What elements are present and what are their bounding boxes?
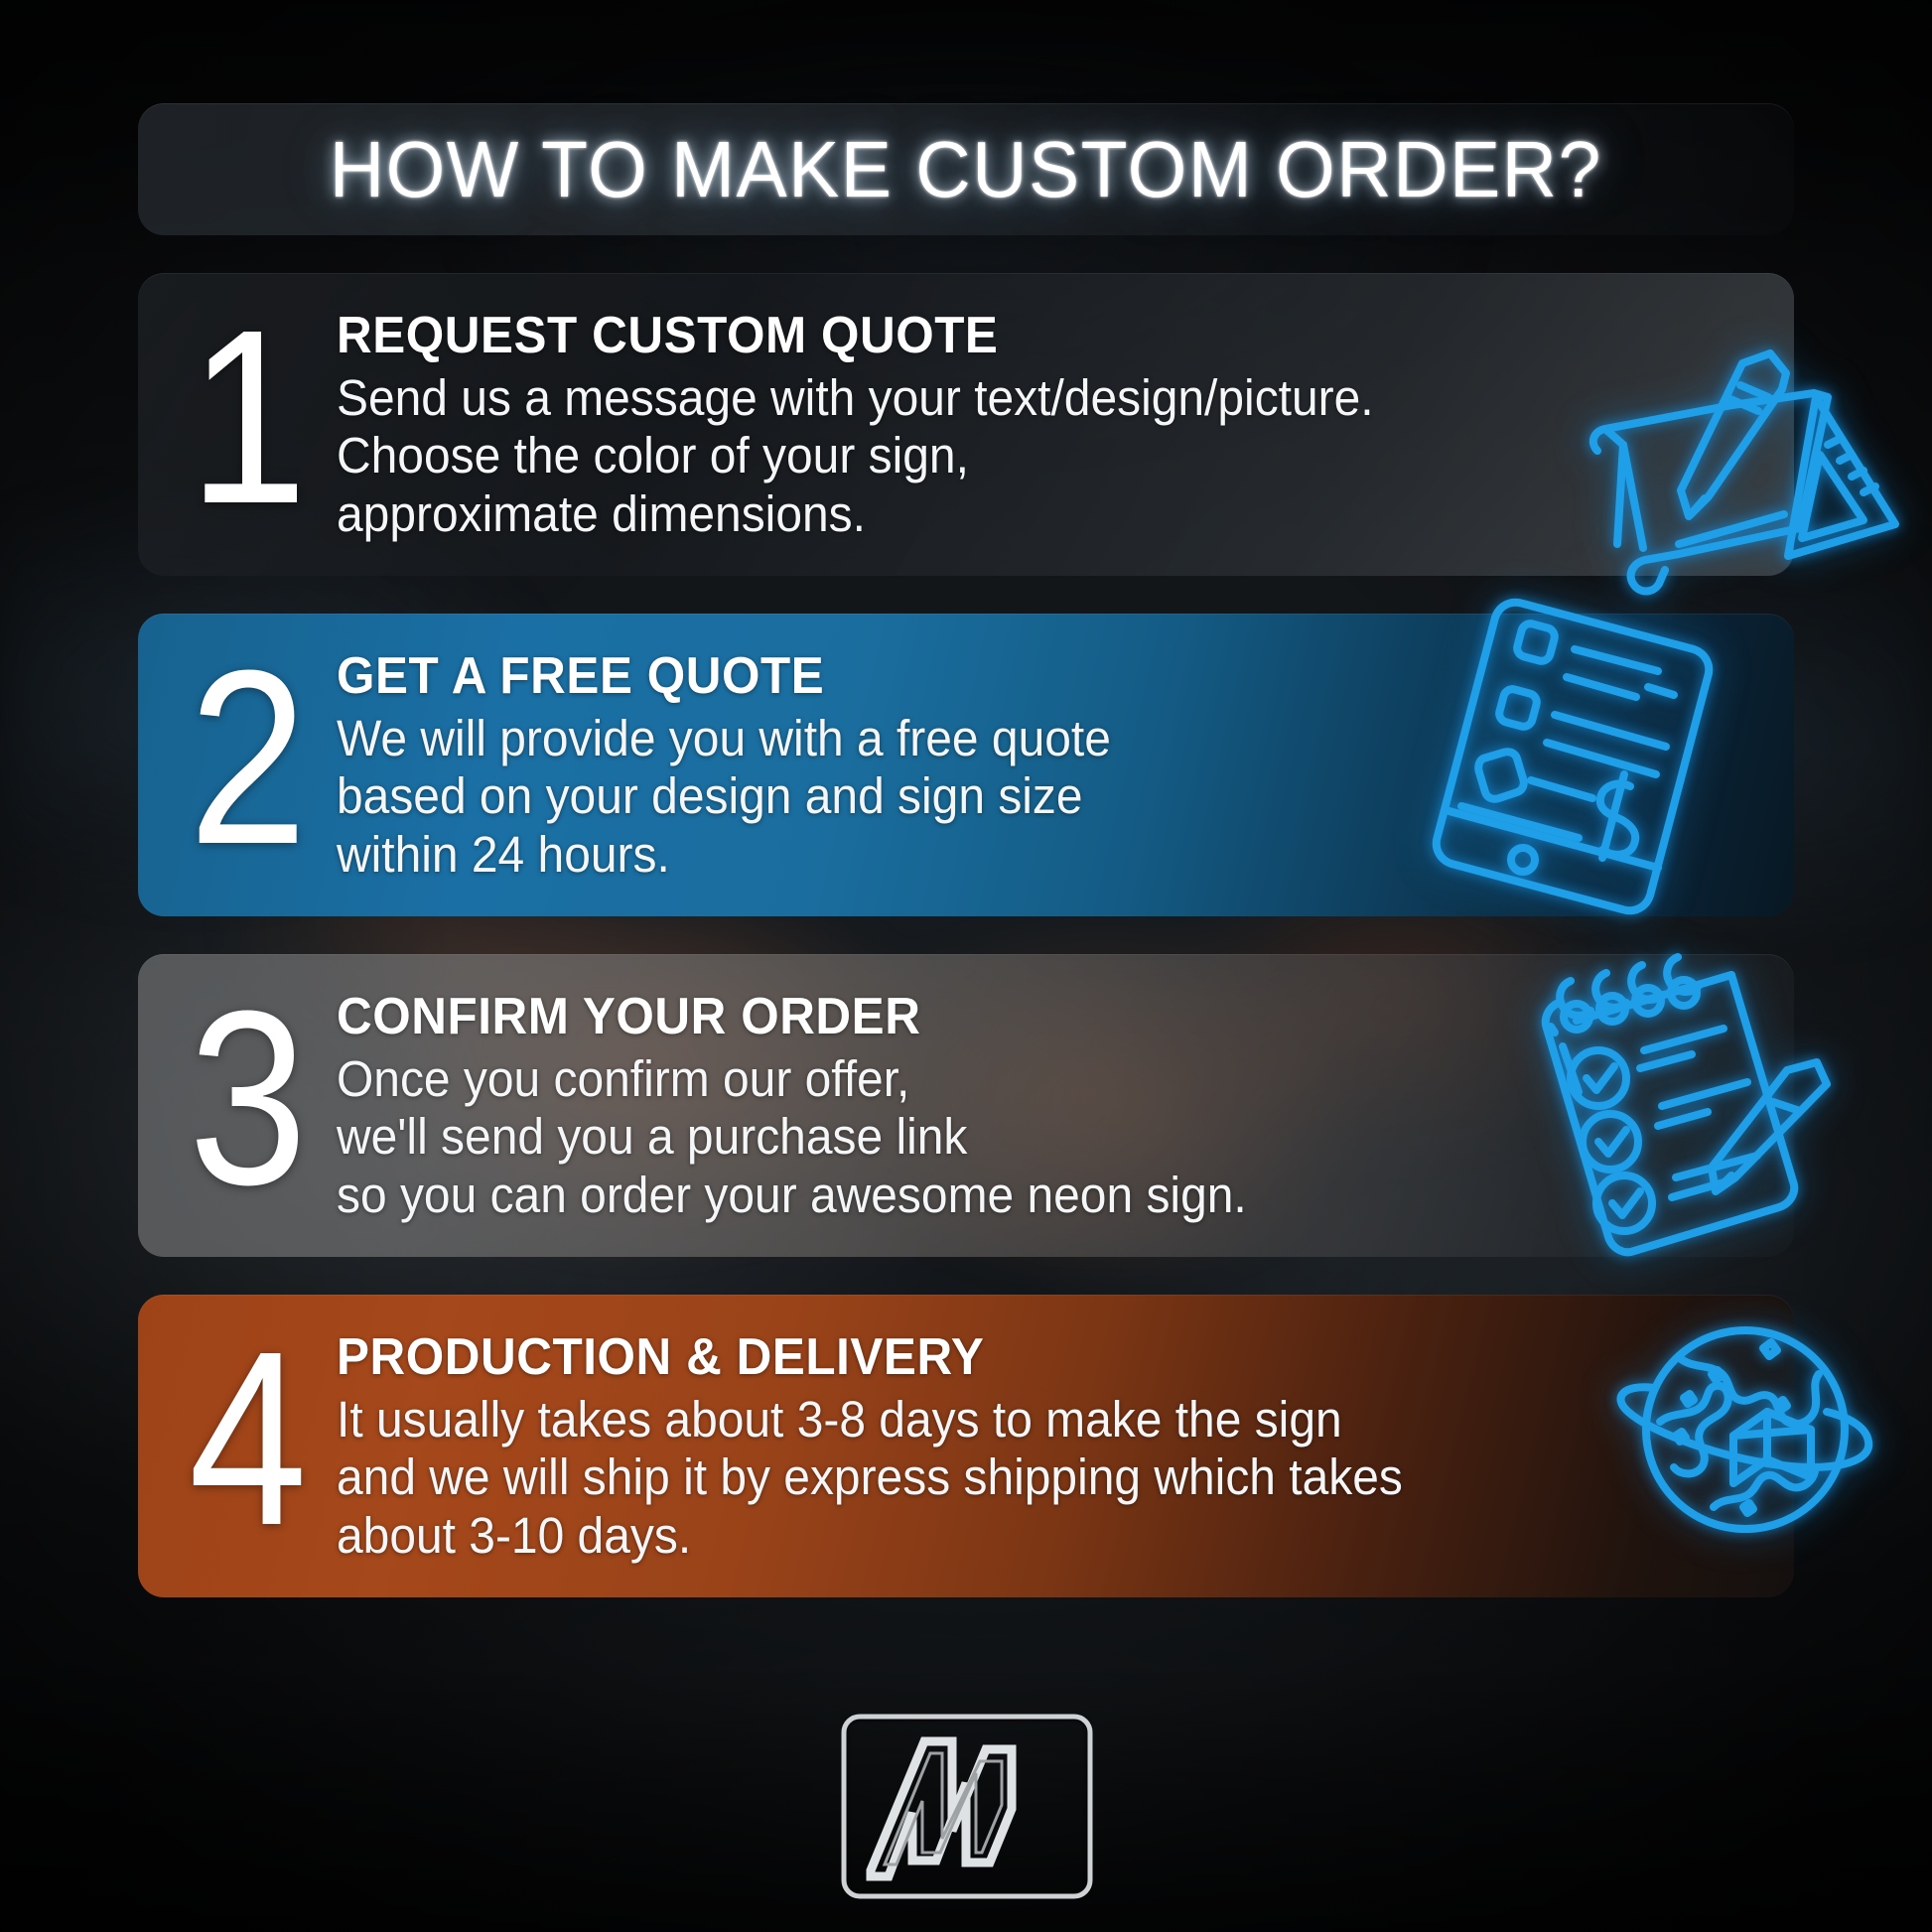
step-content-3: CONFIRM YOUR ORDER Once you confirm our … — [337, 954, 1794, 1257]
step-3-line-1: Once you confirm our offer, — [337, 1050, 1669, 1108]
step-number-3: 3 — [165, 946, 327, 1249]
step-description-1: Send us a message with your text/design/… — [337, 369, 1669, 542]
step-1-line-1: Send us a message with your text/design/… — [337, 369, 1669, 427]
step-card-2: 2 GET A FREE QUOTE We will provide you w… — [138, 614, 1794, 916]
step-card-4: 4 PRODUCTION & DELIVERY It usually takes… — [138, 1295, 1794, 1597]
step-description-4: It usually takes about 3-8 days to make … — [337, 1391, 1669, 1564]
step-2-line-1: We will provide you with a free quote — [337, 710, 1669, 767]
title-banner: HOW TO MAKE CUSTOM ORDER? — [138, 103, 1794, 235]
step-1-line-2: Choose the color of your sign, — [337, 427, 1669, 484]
step-heading-2: GET A FREE QUOTE — [337, 646, 1684, 706]
step-description-3: Once you confirm our offer, we'll send y… — [337, 1050, 1669, 1223]
step-4-line-1: It usually takes about 3-8 days to make … — [337, 1391, 1669, 1449]
step-number-4: 4 — [165, 1287, 327, 1589]
step-card-1: 1 REQUEST CUSTOM QUOTE Send us a message… — [138, 273, 1794, 576]
step-content-4: PRODUCTION & DELIVERY It usually takes a… — [337, 1295, 1794, 1597]
step-heading-3: CONFIRM YOUR ORDER — [337, 987, 1684, 1046]
step-content-2: GET A FREE QUOTE We will provide you wit… — [337, 614, 1794, 916]
infographic-canvas: HOW TO MAKE CUSTOM ORDER? 1 REQUEST CUST… — [0, 0, 1932, 1932]
step-4-line-3: about 3-10 days. — [337, 1507, 1669, 1565]
page-title: HOW TO MAKE CUSTOM ORDER? — [330, 124, 1602, 215]
step-content-1: REQUEST CUSTOM QUOTE Send us a message w… — [337, 273, 1794, 576]
step-card-3: 3 CONFIRM YOUR ORDER Once you confirm ou… — [138, 954, 1794, 1257]
step-1-line-3: approximate dimensions. — [337, 485, 1669, 543]
step-4-line-2: and we will ship it by express shipping … — [337, 1449, 1669, 1506]
step-number-1: 1 — [165, 265, 327, 568]
step-number-2: 2 — [165, 606, 327, 908]
step-2-line-2: based on your design and sign size — [337, 767, 1669, 825]
step-heading-1: REQUEST CUSTOM QUOTE — [337, 306, 1684, 365]
step-2-line-3: within 24 hours. — [337, 826, 1669, 884]
step-description-2: We will provide you with a free quote ba… — [337, 710, 1669, 883]
brand-monogram-logo — [841, 1714, 1093, 1899]
step-3-line-3: so you can order your awesome neon sign. — [337, 1167, 1669, 1224]
step-heading-4: PRODUCTION & DELIVERY — [337, 1327, 1684, 1387]
step-3-line-2: we'll send you a purchase link — [337, 1108, 1669, 1166]
